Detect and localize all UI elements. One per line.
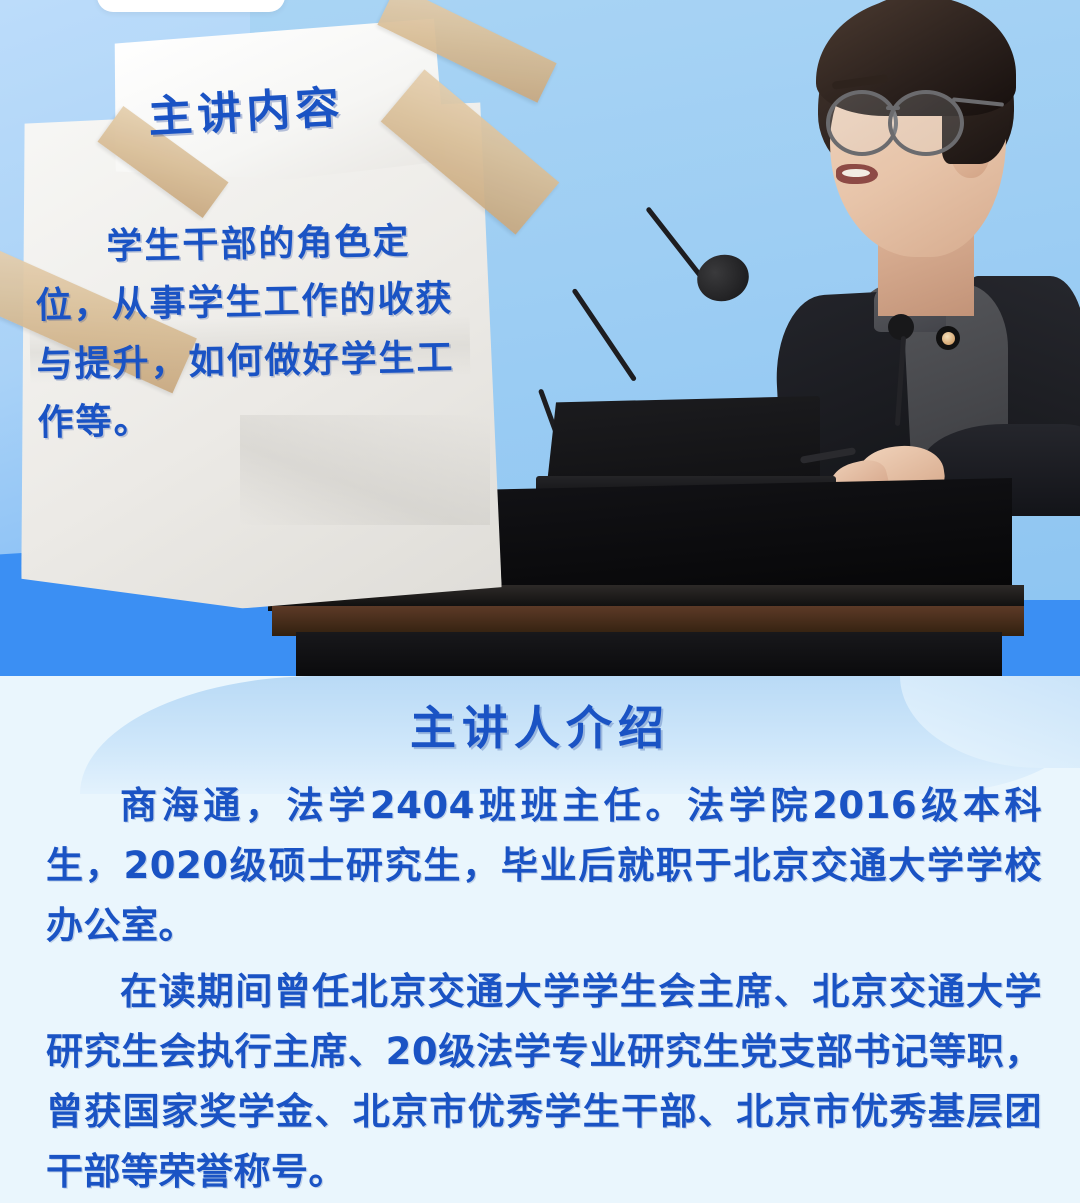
top-photo-section: 北 京 交 通 大 學 主讲内容 学生干部的角色定位，从事学生工作的收获与提升，… bbox=[0, 0, 1080, 676]
bio-paragraph-1: 商海通，法学2404班班主任。法学院2016级本科生，2020级硕士研究生，毕业… bbox=[46, 776, 1042, 956]
top-rounded-chip bbox=[97, 0, 285, 12]
lapel-pin-badge bbox=[936, 326, 960, 350]
poster-root: 北 京 交 通 大 學 主讲内容 学生干部的角色定位，从事学生工作的收获与提升，… bbox=[0, 0, 1080, 1203]
note-body-text: 学生干部的角色定位，从事学生工作的收获与提升，如何做好学生工作等。 bbox=[34, 212, 466, 453]
section-title: 主讲人介绍 bbox=[0, 692, 1080, 758]
podium-body bbox=[296, 632, 1002, 676]
glasses-bridge bbox=[886, 106, 900, 110]
speaker-intro-section: 主讲人介绍 商海通，法学2404班班主任。法学院2016级本科生，2020级硕士… bbox=[0, 676, 1080, 1203]
teeth bbox=[842, 169, 870, 177]
bio-paragraph-2: 在读期间曾任北京交通大学学生会主席、北京交通大学研究生会执行主席、20级法学专业… bbox=[46, 962, 1042, 1202]
bio-text-block: 商海通，法学2404班班主任。法学院2016级本科生，2020级硕士研究生，毕业… bbox=[46, 776, 1042, 1203]
